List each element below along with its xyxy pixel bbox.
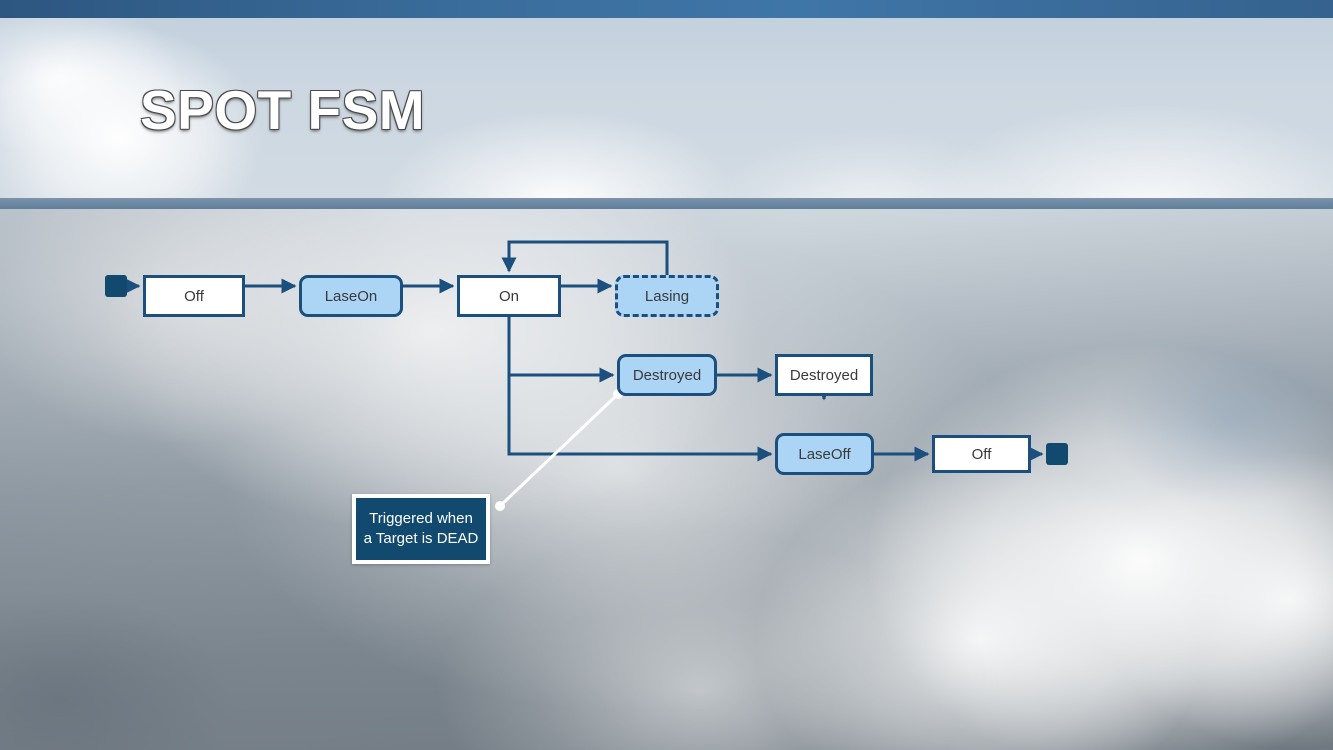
state-node-off-final[interactable]: Off <box>932 435 1031 473</box>
callout-leader-line <box>495 389 623 511</box>
state-node-lasing[interactable]: Lasing <box>615 275 719 317</box>
edge-lasing-to-on-loop <box>509 242 667 275</box>
header-top-strip <box>0 0 1333 18</box>
state-label: On <box>499 288 519 305</box>
header-divider-bar <box>0 198 1333 209</box>
fsm-diagram: Off LaseOn On Lasing Destroyed Destroyed… <box>0 209 1333 750</box>
state-node-laseoff[interactable]: LaseOff <box>775 433 874 475</box>
state-node-destroyed-action[interactable]: Destroyed <box>617 354 717 396</box>
page-title: SPOT FSM <box>140 78 425 142</box>
state-node-laseon[interactable]: LaseOn <box>299 275 403 317</box>
state-label: LaseOff <box>798 446 850 463</box>
callout-line-2: a Target is DEAD <box>364 529 479 549</box>
state-label: Off <box>184 288 204 305</box>
state-node-destroyed-state[interactable]: Destroyed <box>775 354 873 396</box>
annotation-callout: Triggered when a Target is DEAD <box>352 494 490 564</box>
start-terminal <box>105 275 127 297</box>
callout-line-1: Triggered when <box>364 509 479 529</box>
state-label: Off <box>972 446 992 463</box>
state-node-on[interactable]: On <box>457 275 561 317</box>
slide-canvas: SPOT FSM <box>0 0 1333 750</box>
state-node-off-initial[interactable]: Off <box>143 275 245 317</box>
state-label: Destroyed <box>790 367 858 384</box>
state-label: Lasing <box>645 288 689 305</box>
state-label: LaseOn <box>325 288 378 305</box>
end-terminal <box>1046 443 1068 465</box>
state-label: Destroyed <box>633 367 701 384</box>
